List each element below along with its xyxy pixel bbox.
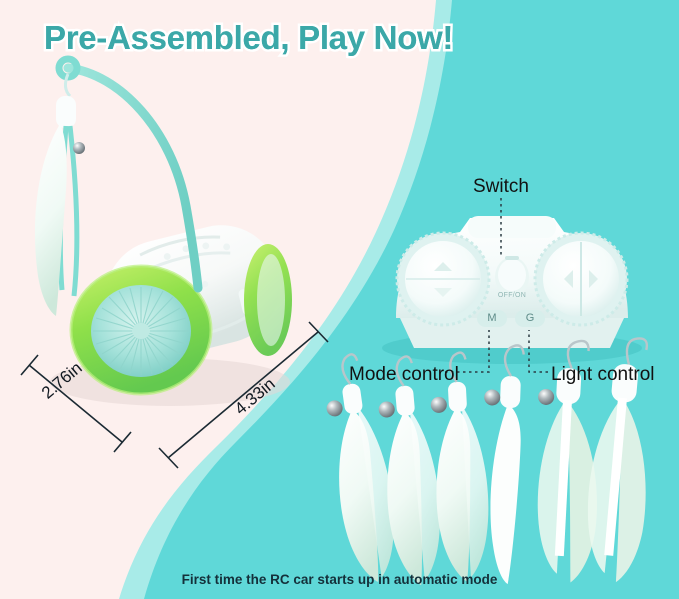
- wheel-front: [71, 266, 211, 394]
- callout-label-light-control: Light control: [551, 364, 655, 386]
- light-button-label[interactable]: G: [515, 310, 545, 327]
- mode-button-label[interactable]: M: [477, 310, 507, 327]
- dpad-left[interactable]: [397, 233, 489, 325]
- product-infographic: Pre-Assembled, Play Now! Pre-Assembled, …: [0, 0, 679, 599]
- dpad-right[interactable]: [535, 233, 627, 325]
- callout-label-switch: Switch: [473, 176, 529, 198]
- background-shapes: [0, 0, 679, 599]
- callout-label-mode-control: Mode control: [349, 364, 459, 386]
- background: [0, 0, 679, 599]
- page-title: Pre-Assembled, Play Now!: [44, 19, 453, 57]
- bottom-caption: First time the RC car starts up in autom…: [0, 572, 679, 587]
- wheel-rear: [244, 244, 292, 356]
- power-switch-label: OFF/ON: [487, 292, 537, 299]
